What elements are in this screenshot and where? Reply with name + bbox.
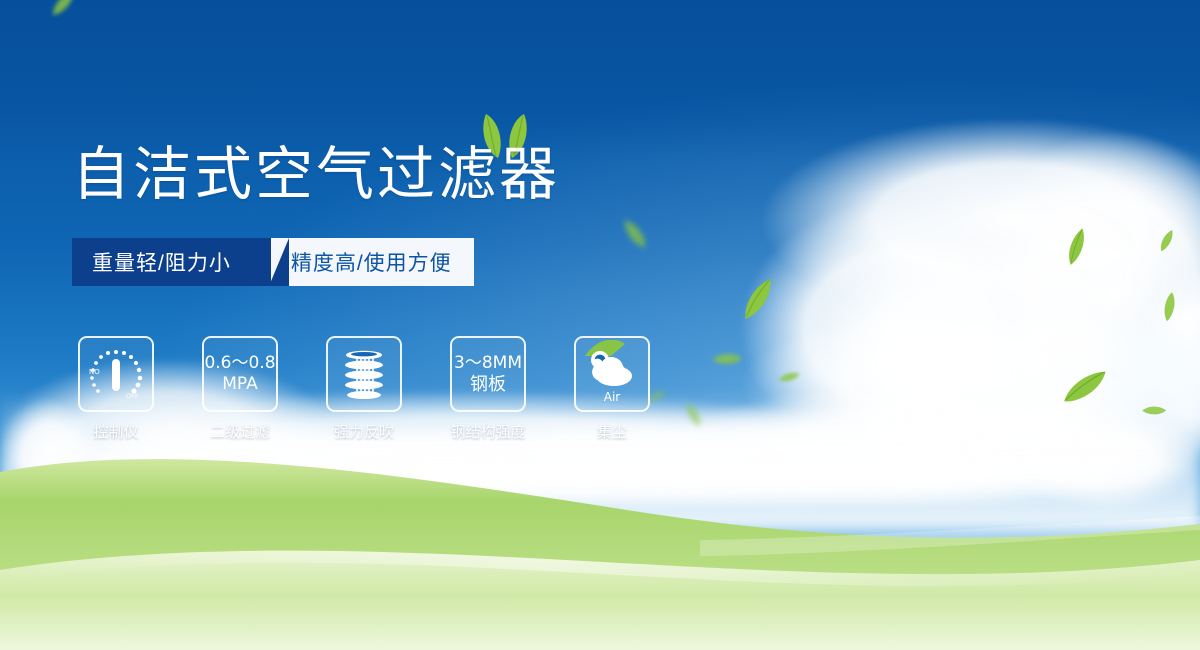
feature-item[interactable]: 3〜8MM 钢板 钢结构强度 [450, 336, 526, 442]
feature-label: 强力反吹 [334, 421, 394, 442]
control-dial-icon: NO OFF [78, 336, 154, 412]
feature-label: 控制仪 [93, 421, 138, 442]
feature-label: 集尘 [597, 421, 627, 442]
badge-right: 精度高/使用方便 [257, 238, 474, 286]
pressure-text-icon: 0.6〜0.8 MPA [202, 336, 278, 412]
feature-item[interactable]: Air 集尘 [574, 336, 650, 442]
feature-label: 钢结构强度 [450, 421, 525, 442]
badge-left: 重量轻/阻力小 [72, 238, 271, 286]
feature-label: 二级过滤 [210, 421, 270, 442]
feature-item[interactable]: 强力反吹 [326, 336, 402, 442]
steel-plate-text-icon: 3〜8MM 钢板 [450, 336, 526, 412]
steel-line1: 3〜8MM [454, 353, 522, 374]
filter-cartridge-icon [326, 336, 402, 412]
banner-content: 自洁式空气过滤器 重量轻/阻力小 精度高/使用方便 [0, 0, 1200, 650]
svg-text:OFF: OFF [126, 392, 139, 400]
product-banner: 自洁式空气过滤器 重量轻/阻力小 精度高/使用方便 [0, 0, 1200, 650]
feature-item[interactable]: 0.6〜0.8 MPA 二级过滤 [202, 336, 278, 442]
steel-line2: 钢板 [470, 374, 506, 395]
pressure-line1: 0.6〜0.8 [204, 353, 275, 374]
feature-item[interactable]: NO OFF 控制仪 [78, 336, 154, 442]
tagline-badges: 重量轻/阻力小 精度高/使用方便 [72, 238, 474, 286]
cloud-air-icon: Air [574, 336, 650, 412]
pressure-line2: MPA [222, 374, 257, 395]
cloud-air-caption: Air [576, 390, 648, 404]
svg-text:NO: NO [89, 368, 100, 376]
page-title: 自洁式空气过滤器 [72, 143, 560, 205]
feature-list: NO OFF 控制仪 0.6〜0.8 MPA 二级过滤 [78, 336, 650, 442]
